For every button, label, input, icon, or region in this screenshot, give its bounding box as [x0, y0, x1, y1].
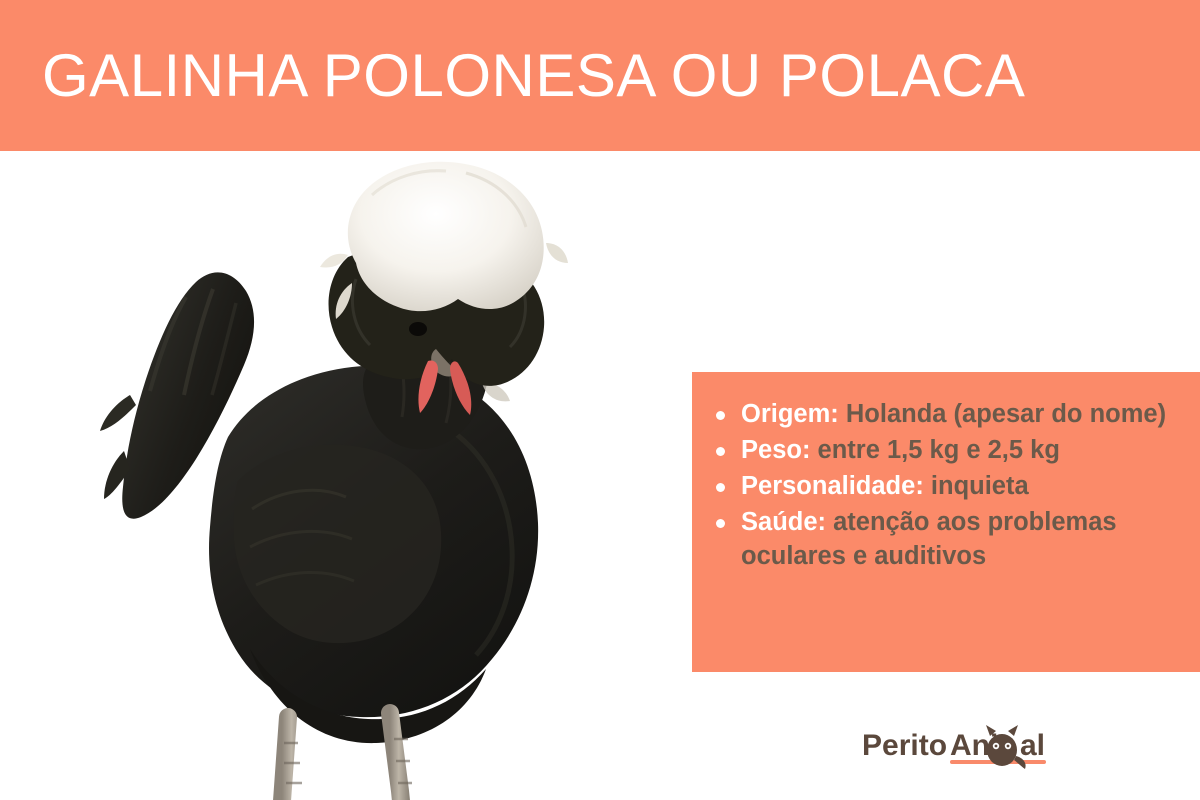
fact-label: Origem:: [741, 400, 839, 428]
list-item: Saúde: atenção aos problemas oculares e …: [712, 506, 1182, 574]
bullet-icon: [716, 519, 725, 528]
logo-text-perito: Perito: [862, 729, 947, 762]
bullet-icon: [716, 483, 725, 492]
facts-panel: Origem: Holanda (apesar do nome) Peso: e…: [692, 372, 1200, 672]
fact-label: Personalidade:: [741, 472, 924, 500]
fact-value: entre 1,5 kg e 2,5 kg: [818, 436, 1060, 464]
facts-list: Origem: Holanda (apesar do nome) Peso: e…: [712, 398, 1182, 574]
header-bar: GALINHA POLONESA OU POLACA: [0, 0, 1200, 151]
fact-value: Holanda (apesar do nome): [846, 400, 1166, 428]
page-title: GALINHA POLONESA OU POLACA: [42, 46, 1025, 106]
fact-label: Peso:: [741, 436, 810, 464]
fact-label: Saúde:: [741, 508, 826, 536]
infographic-card: GALINHA POLONESA OU POLACA: [0, 0, 1200, 800]
list-item: Origem: Holanda (apesar do nome): [712, 398, 1182, 432]
list-item: Peso: entre 1,5 kg e 2,5 kg: [712, 434, 1182, 468]
bullet-icon: [716, 411, 725, 420]
chicken-photo: [0, 151, 690, 800]
logo-svg: Perito Ani al: [862, 722, 1052, 772]
logo-text-al: al: [1020, 729, 1045, 762]
bullet-icon: [716, 447, 725, 456]
chicken-illustration: [0, 151, 690, 800]
fact-value: inquieta: [931, 472, 1029, 500]
list-item: Personalidade: inquieta: [712, 470, 1182, 504]
perito-animal-logo[interactable]: Perito Ani al: [862, 722, 1052, 772]
